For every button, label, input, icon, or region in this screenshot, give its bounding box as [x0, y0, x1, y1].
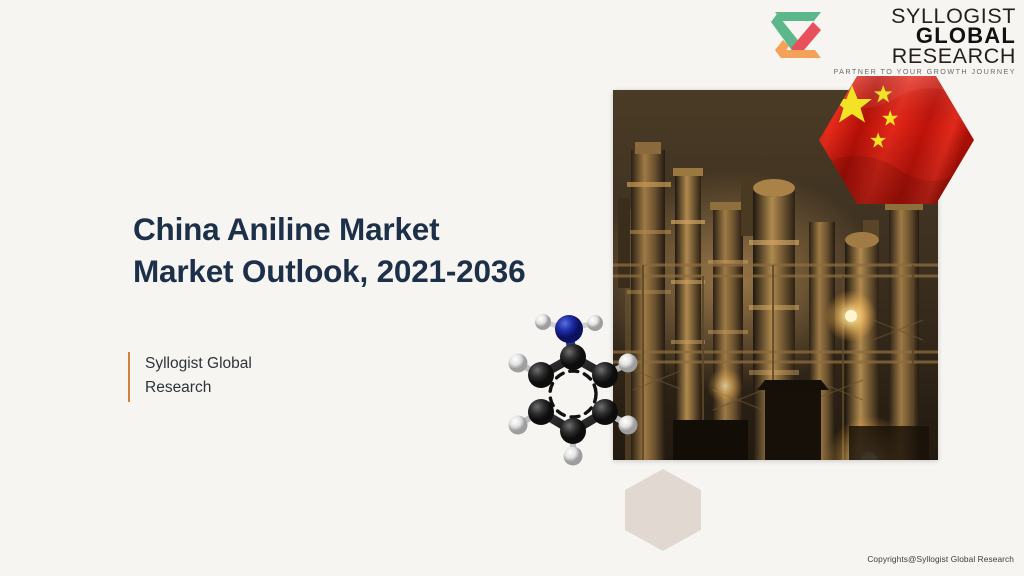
- china-flag-hexagon: [818, 74, 975, 206]
- page-title: China Aniline Market Market Outlook, 202…: [133, 209, 603, 293]
- company-logo: SYLLOGIST GLOBAL RESEARCH PARTNER TO YOU…: [769, 6, 1016, 76]
- logo-line-global: GLOBAL: [916, 26, 1016, 46]
- title-line-1: China Aniline Market: [133, 209, 603, 251]
- subtitle-line-2: Research: [145, 376, 252, 400]
- title-line-2: Market Outlook, 2021-2036: [133, 251, 603, 293]
- decorative-hexagon: [624, 468, 702, 552]
- subtitle-line-1: Syllogist Global: [145, 352, 252, 376]
- copyright-text: Copyrights@Syllogist Global Research: [867, 554, 1014, 564]
- logo-line-research: RESEARCH: [892, 46, 1016, 66]
- aniline-molecule-model: [503, 313, 643, 468]
- syllogist-arrow-mark-icon: [769, 8, 827, 62]
- slide-canvas: SYLLOGIST GLOBAL RESEARCH PARTNER TO YOU…: [0, 0, 1024, 576]
- logo-wordmark: SYLLOGIST GLOBAL RESEARCH PARTNER TO YOU…: [833, 6, 1016, 76]
- subtitle-block: Syllogist Global Research: [128, 352, 252, 402]
